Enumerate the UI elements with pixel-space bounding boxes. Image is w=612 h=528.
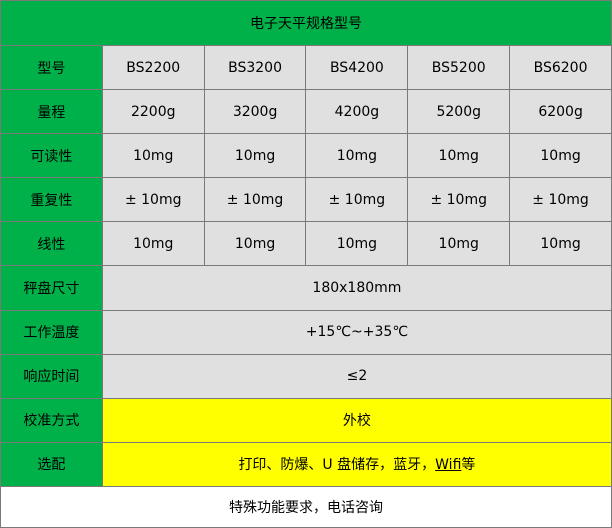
table-footer-note: 特殊功能要求，电话咨询 [1,486,612,527]
cell-operating-temp: +15℃~+35℃ [102,310,611,354]
cell-linearity-3: 10mg [306,222,408,266]
cell-model-2: BS3200 [204,46,306,90]
table-row: 选配 打印、防爆、U 盘储存，蓝牙，Wifi等 [1,442,612,486]
options-text-part2: 等 [461,457,475,473]
table-row: 量程 2200g 3200g 4200g 5200g 6200g [1,90,612,134]
table-row: 型号 BS2200 BS3200 BS4200 BS5200 BS6200 [1,46,612,90]
table-row: 秤盘尺寸 180x180mm [1,266,612,310]
cell-readability-5: 10mg [510,134,612,178]
cell-readability-2: 10mg [204,134,306,178]
cell-capacity-3: 4200g [306,90,408,134]
spec-table: 电子天平规格型号 型号 BS2200 BS3200 BS4200 BS5200 … [0,0,612,528]
cell-response-time: ≤2 [102,354,611,398]
cell-repeatability-4: ± 10mg [408,178,510,222]
row-label-pan-size: 秤盘尺寸 [1,266,103,310]
row-label-response-time: 响应时间 [1,354,103,398]
cell-repeatability-5: ± 10mg [510,178,612,222]
cell-repeatability-3: ± 10mg [306,178,408,222]
row-label-repeatability: 重复性 [1,178,103,222]
table-footer-row: 特殊功能要求，电话咨询 [1,486,612,527]
cell-model-1: BS2200 [102,46,204,90]
cell-calibration: 外校 [102,398,611,442]
row-label-options: 选配 [1,442,103,486]
table-row: 重复性 ± 10mg ± 10mg ± 10mg ± 10mg ± 10mg [1,178,612,222]
table-row: 响应时间 ≤2 [1,354,612,398]
cell-readability-3: 10mg [306,134,408,178]
cell-model-5: BS6200 [510,46,612,90]
cell-options: 打印、防爆、U 盘储存，蓝牙，Wifi等 [102,442,611,486]
cell-linearity-4: 10mg [408,222,510,266]
cell-readability-4: 10mg [408,134,510,178]
row-label-capacity: 量程 [1,90,103,134]
cell-linearity-1: 10mg [102,222,204,266]
table-title: 电子天平规格型号 [1,1,612,46]
cell-capacity-4: 5200g [408,90,510,134]
cell-model-4: BS5200 [408,46,510,90]
cell-capacity-2: 3200g [204,90,306,134]
cell-capacity-5: 6200g [510,90,612,134]
table-row: 校准方式 外校 [1,398,612,442]
cell-repeatability-1: ± 10mg [102,178,204,222]
cell-pan-size: 180x180mm [102,266,611,310]
table-row: 线性 10mg 10mg 10mg 10mg 10mg [1,222,612,266]
options-text-wifi: Wifi [435,457,461,473]
row-label-operating-temp: 工作温度 [1,310,103,354]
row-label-model: 型号 [1,46,103,90]
cell-readability-1: 10mg [102,134,204,178]
cell-linearity-2: 10mg [204,222,306,266]
row-label-readability: 可读性 [1,134,103,178]
options-text-part1: 打印、防爆、U 盘储存，蓝牙， [238,457,435,473]
row-label-linearity: 线性 [1,222,103,266]
table-row: 可读性 10mg 10mg 10mg 10mg 10mg [1,134,612,178]
table-row: 工作温度 +15℃~+35℃ [1,310,612,354]
cell-linearity-5: 10mg [510,222,612,266]
table-title-row: 电子天平规格型号 [1,1,612,46]
cell-model-3: BS4200 [306,46,408,90]
cell-repeatability-2: ± 10mg [204,178,306,222]
cell-capacity-1: 2200g [102,90,204,134]
row-label-calibration: 校准方式 [1,398,103,442]
